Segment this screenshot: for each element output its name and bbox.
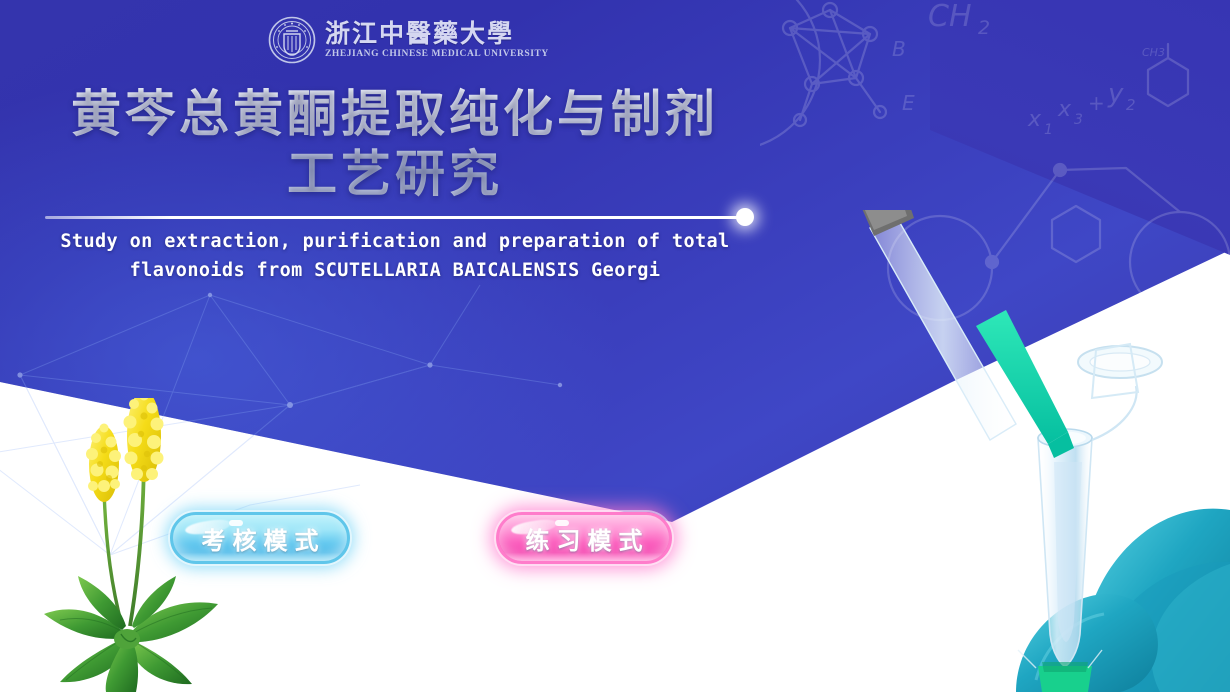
university-seal-icon bbox=[268, 16, 316, 64]
glow-dot-icon bbox=[736, 208, 754, 226]
university-name-cn: 浙江中醫藥大學 bbox=[325, 21, 549, 46]
subtitle-line-2: flavonoids from SCUTELLARIA BAICALENSIS … bbox=[0, 257, 790, 286]
divider-line bbox=[45, 216, 745, 219]
practice-mode-label: 练习模式 bbox=[519, 521, 650, 556]
university-logo: 浙江中醫藥大學 ZHEJIANG CHINESE MEDICAL UNIVERS… bbox=[268, 16, 549, 64]
page-subtitle: Study on extraction, purification and pr… bbox=[0, 228, 790, 285]
practice-mode-button[interactable]: 练习模式 bbox=[496, 512, 672, 564]
assessment-mode-label: 考核模式 bbox=[195, 521, 326, 556]
subtitle-line-1: Study on extraction, purification and pr… bbox=[60, 231, 729, 252]
slide-root: CH 2 B E x 1 x 3 + y 2 HN 2 CH3 bbox=[0, 0, 1230, 692]
title-line-1: 黄芩总黄酮提取纯化与制剂 bbox=[71, 85, 719, 143]
title-line-2: 工艺研究 bbox=[0, 144, 790, 204]
university-name-en: ZHEJIANG CHINESE MEDICAL UNIVERSITY bbox=[325, 50, 549, 60]
assessment-mode-button[interactable]: 考核模式 bbox=[170, 512, 350, 564]
page-title: 黄芩总黄酮提取纯化与制剂 工艺研究 bbox=[0, 84, 790, 204]
divider bbox=[45, 215, 751, 219]
